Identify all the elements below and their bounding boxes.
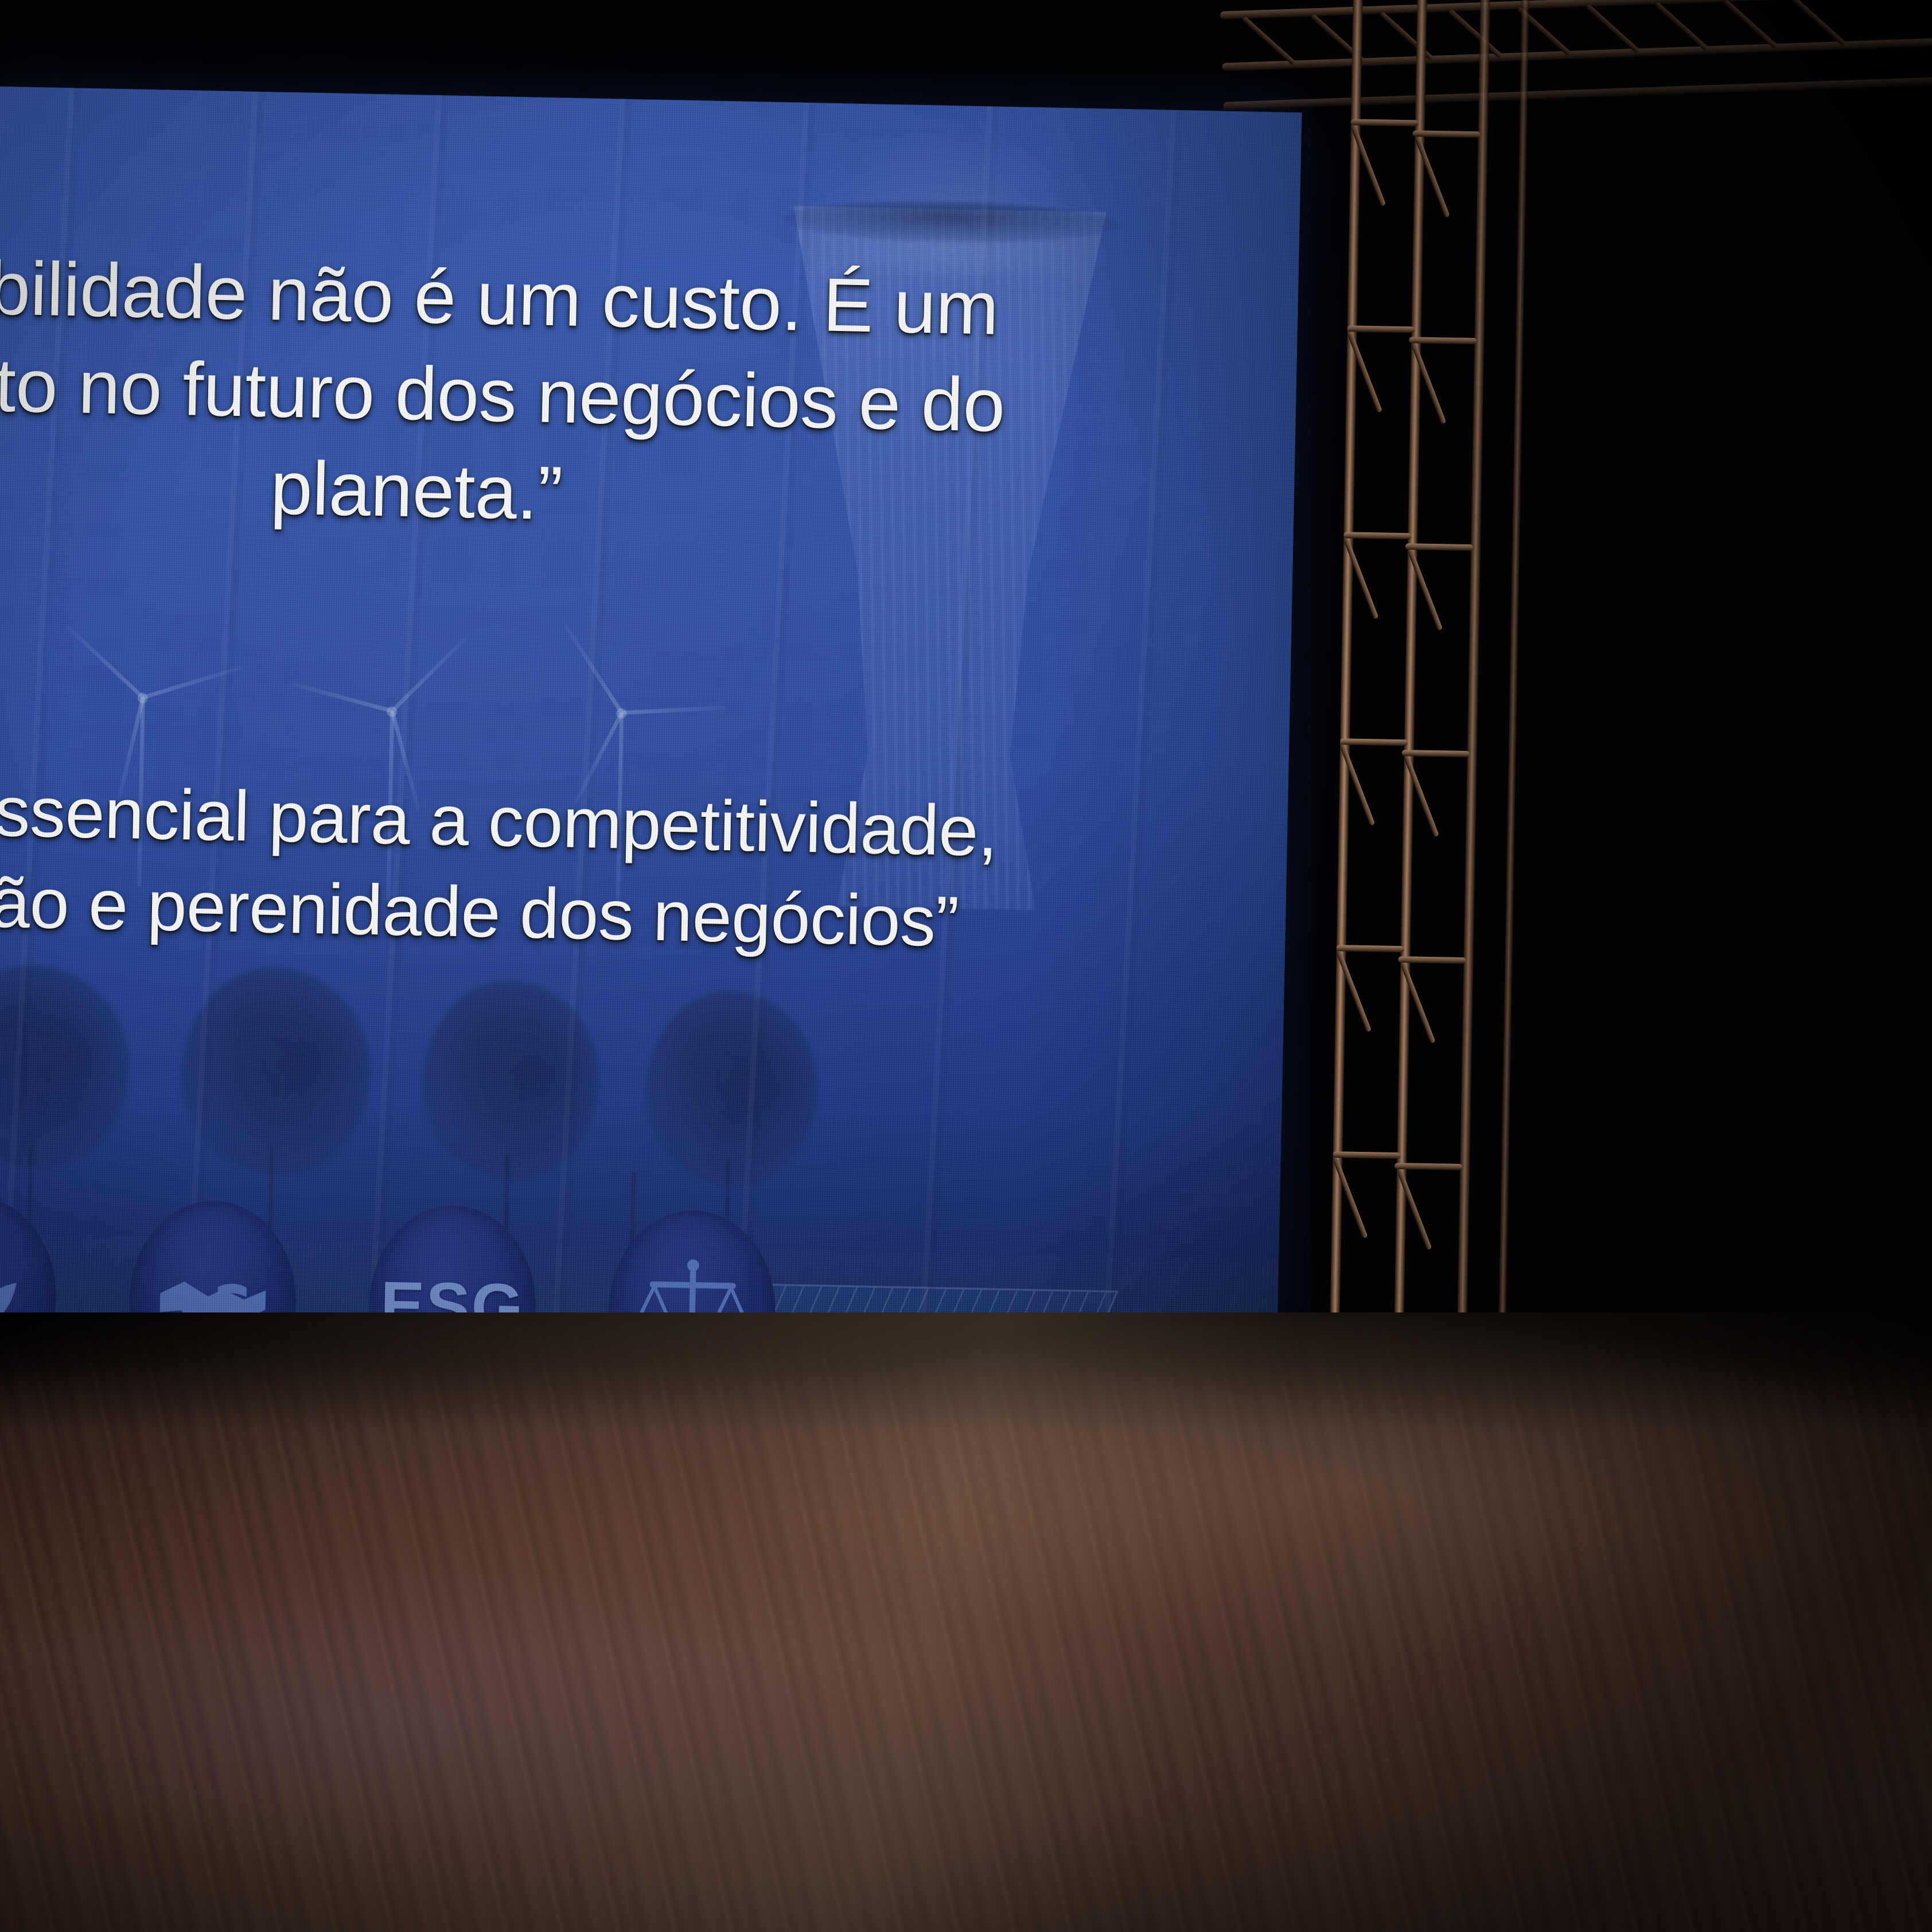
truss-rung (1402, 750, 1470, 757)
truss-rung (1405, 543, 1473, 551)
tree-canopy (0, 963, 131, 1171)
truss-chord (1222, 38, 1932, 71)
turbine-blade (564, 625, 624, 714)
truss-chord (1224, 77, 1932, 110)
truss-rung (1347, 325, 1415, 333)
tree-canopy (420, 979, 602, 1182)
floor-shadow-band (0, 1312, 1932, 1433)
tree-canopy (644, 989, 820, 1187)
turbine-blade (66, 625, 144, 699)
slide-quote-primary: entabilidade não é um custo. É um imento… (0, 236, 1052, 552)
stage-scene: entabilidade não é um custo. É um imento… (0, 0, 1932, 1932)
truss-diagonal (1654, 2, 1709, 52)
turbine-blade (621, 706, 724, 715)
turbine-blade (292, 682, 393, 713)
turbine-hub (137, 693, 147, 703)
slide-quote-secondary: G é essencial para a competitividade, ut… (0, 762, 1042, 969)
turbine-hub (387, 706, 397, 716)
turbine-hub (616, 708, 626, 718)
truss-rung (1340, 738, 1408, 746)
truss-diagonal (1723, 0, 1778, 49)
stage-floor (0, 1312, 1932, 1932)
truss-rung (1395, 1163, 1462, 1170)
truss-rung (1333, 1151, 1400, 1159)
truss-diagonal (1586, 4, 1640, 54)
truss-rung (1351, 119, 1419, 126)
turbine-blade (391, 637, 467, 712)
truss-tower (1323, 0, 1540, 1516)
truss-diagonal (1792, 0, 1847, 46)
truss-rung (1409, 337, 1477, 344)
truss-diagonal (1241, 16, 1296, 66)
tree-canopy (179, 965, 372, 1177)
truss-rung (1398, 956, 1466, 964)
turbine-blade (142, 665, 242, 699)
steam-plume (800, 120, 1101, 275)
truss-chord (1220, 0, 1932, 20)
truss-rung (1343, 532, 1411, 539)
truss-chord (1454, 0, 1491, 1515)
truss-rung (1337, 945, 1404, 952)
cooling-tower-rim (780, 198, 1119, 246)
truss-rung (1413, 130, 1481, 138)
